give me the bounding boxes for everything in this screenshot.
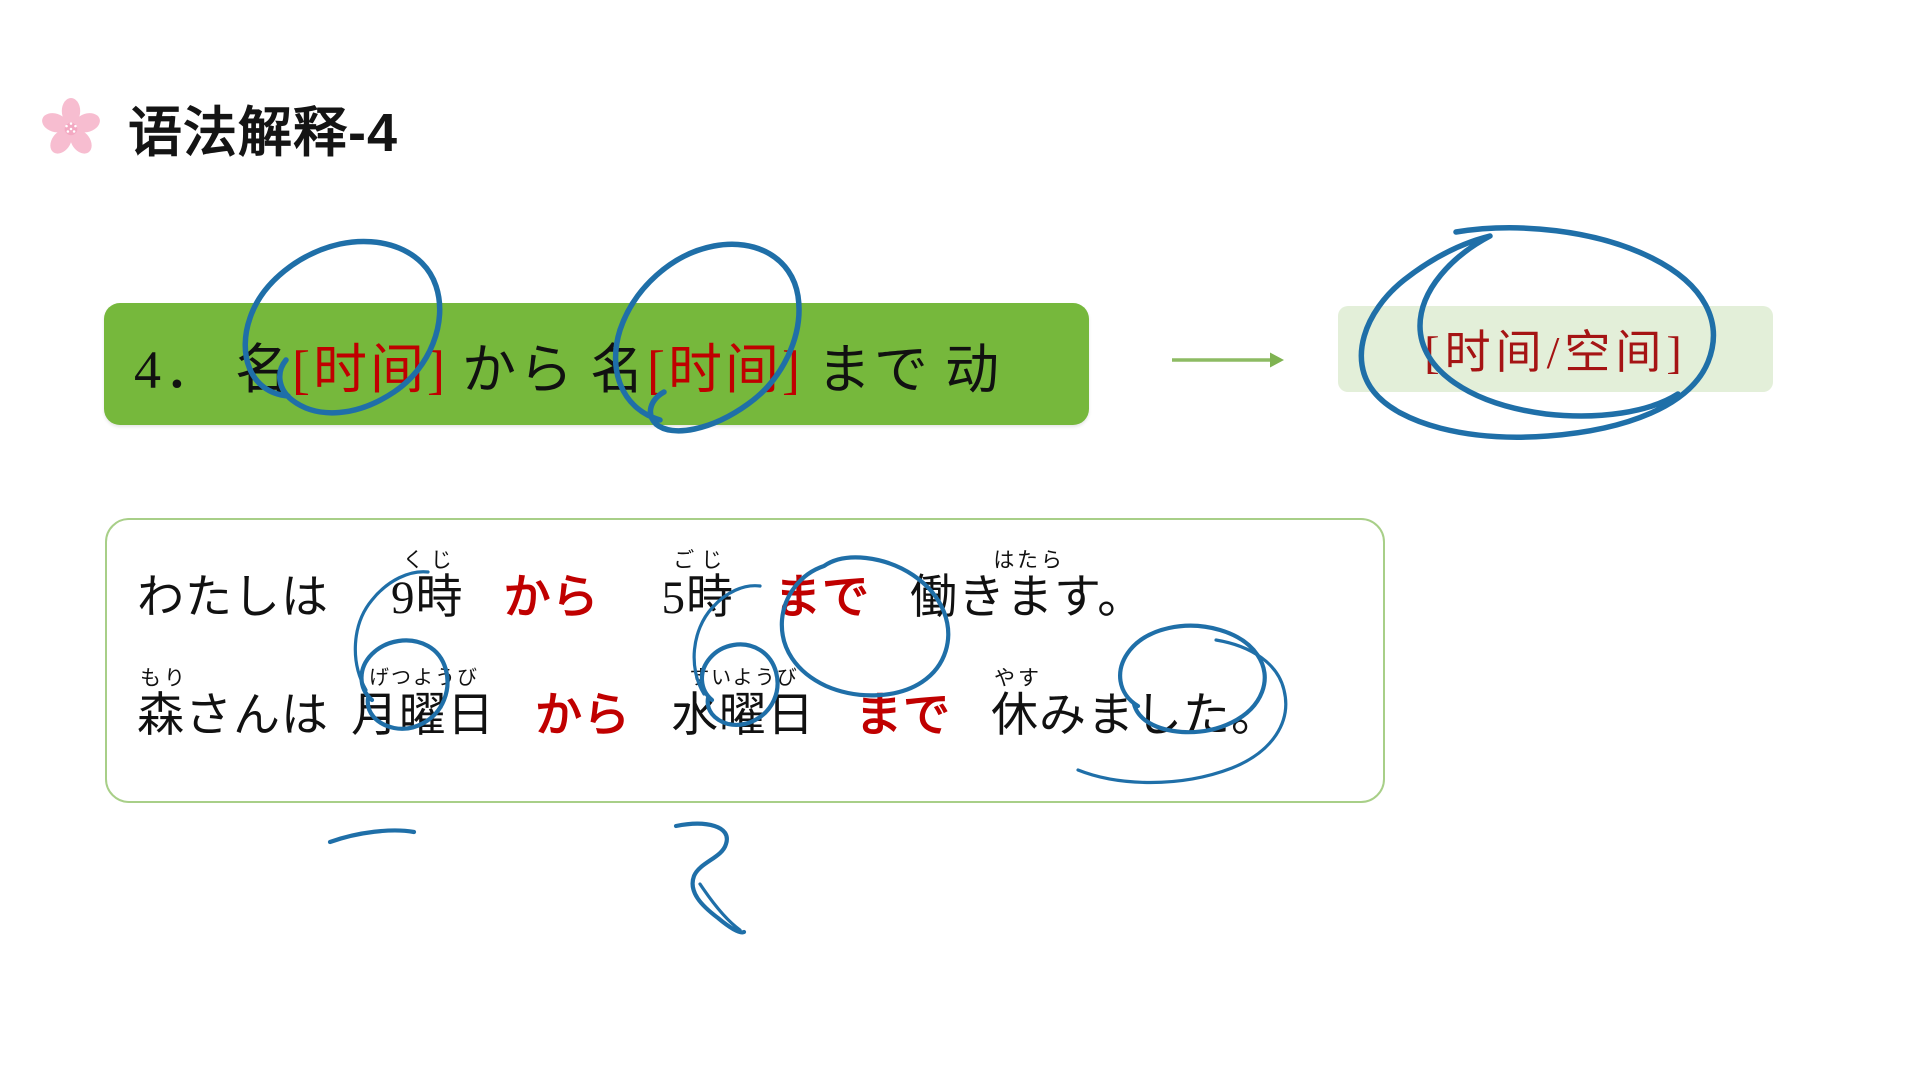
rule-token-noun-2: 名	[590, 340, 647, 400]
rule-token-made: まで	[817, 340, 931, 400]
sentence1-subject: わたしは	[137, 550, 329, 623]
rule-token-time-1: [时间]	[292, 340, 448, 400]
slide-canvas: 语法解释-4 4．名[时间]から名[时间]まで动 [时间/空间] わたしは くじ…	[0, 0, 1920, 1080]
sentence1-time-end: ごじ 5時	[662, 550, 735, 623]
sentence2-particle-made-base: まで	[855, 692, 951, 741]
sentence1-verb-furigana: はたら	[990, 550, 1065, 574]
rule-index-label: 4．	[134, 340, 221, 400]
grammar-rule-banner: 4．名[时间]から名[时间]まで动	[104, 303, 1089, 425]
sentence2-day-start-furigana: げつようび	[367, 668, 479, 692]
right-arrow-icon	[1170, 340, 1285, 380]
rule-token-noun-1: 名	[235, 340, 292, 400]
sentence2-subject-base: 森さんは	[137, 692, 329, 741]
sentence1-time-end-base: 5時	[662, 574, 735, 623]
page-title: 语法解释-4	[128, 88, 398, 167]
rule-token-time-2: [时间]	[647, 340, 803, 400]
examples-card: わたしは くじ 9時 から ごじ 5時 まで	[105, 518, 1385, 803]
sentence2-day-start: げつようび 月曜日	[351, 668, 495, 741]
ink-stroke-squiggle-tail	[700, 884, 740, 930]
sentence2-verb-furigana: やす	[991, 668, 1042, 692]
sentence1-subject-base: わたしは	[137, 574, 329, 623]
sentence2-verb-base: 休みました。	[991, 692, 1279, 741]
sentence2-subject: もり 森さんは	[137, 668, 329, 741]
sentence1-time-start: くじ 9時	[391, 550, 464, 623]
sentence2-day-end-base: 水曜日	[671, 692, 815, 741]
sentence1-verb: はたら 働きます。	[910, 550, 1145, 623]
sentence2-subject-furigana: もり	[137, 668, 188, 692]
sentence1-particle-kara: から	[504, 550, 600, 623]
sentence1-time-end-furigana: ごじ	[666, 550, 729, 574]
rule-token-verb: 动	[945, 340, 1002, 400]
slide-header: 语法解释-4	[40, 88, 398, 167]
sentence1-particle-kara-base: から	[504, 574, 600, 623]
sentence1-time-start-furigana: くじ	[396, 550, 459, 574]
sentence2-day-end: すいようび 水曜日	[671, 668, 815, 741]
sentence2-particle-kara: から	[535, 668, 631, 741]
rule-result-text: [时间/空间]	[1424, 316, 1686, 382]
sentence2-day-end-furigana: すいようび	[687, 668, 799, 692]
sakura-flower-icon	[40, 97, 102, 159]
sentence1-particle-made-base: まで	[774, 574, 870, 623]
ink-stroke-dash	[330, 830, 414, 842]
example-sentence-2: もり 森さんは げつようび 月曜日 から すいようび 水曜日 まで	[137, 668, 1279, 741]
sentence2-particle-kara-base: から	[535, 692, 631, 741]
sentence2-particle-made: まで	[855, 668, 951, 741]
sentence2-verb: やす 休みました。	[991, 668, 1279, 741]
ink-stroke-squiggle	[676, 824, 744, 933]
sentence1-verb-base: 働きます。	[910, 574, 1145, 623]
sentence1-time-start-base: 9時	[391, 574, 464, 623]
rule-result-chip: [时间/空间]	[1338, 306, 1773, 392]
grammar-rule-text: 4．名[时间]から名[时间]まで动	[104, 325, 1002, 404]
rule-token-kara: から	[462, 340, 576, 400]
sentence1-particle-made: まで	[774, 550, 870, 623]
sentence2-day-start-base: 月曜日	[351, 692, 495, 741]
example-sentence-1: わたしは くじ 9時 から ごじ 5時 まで	[137, 550, 1145, 623]
